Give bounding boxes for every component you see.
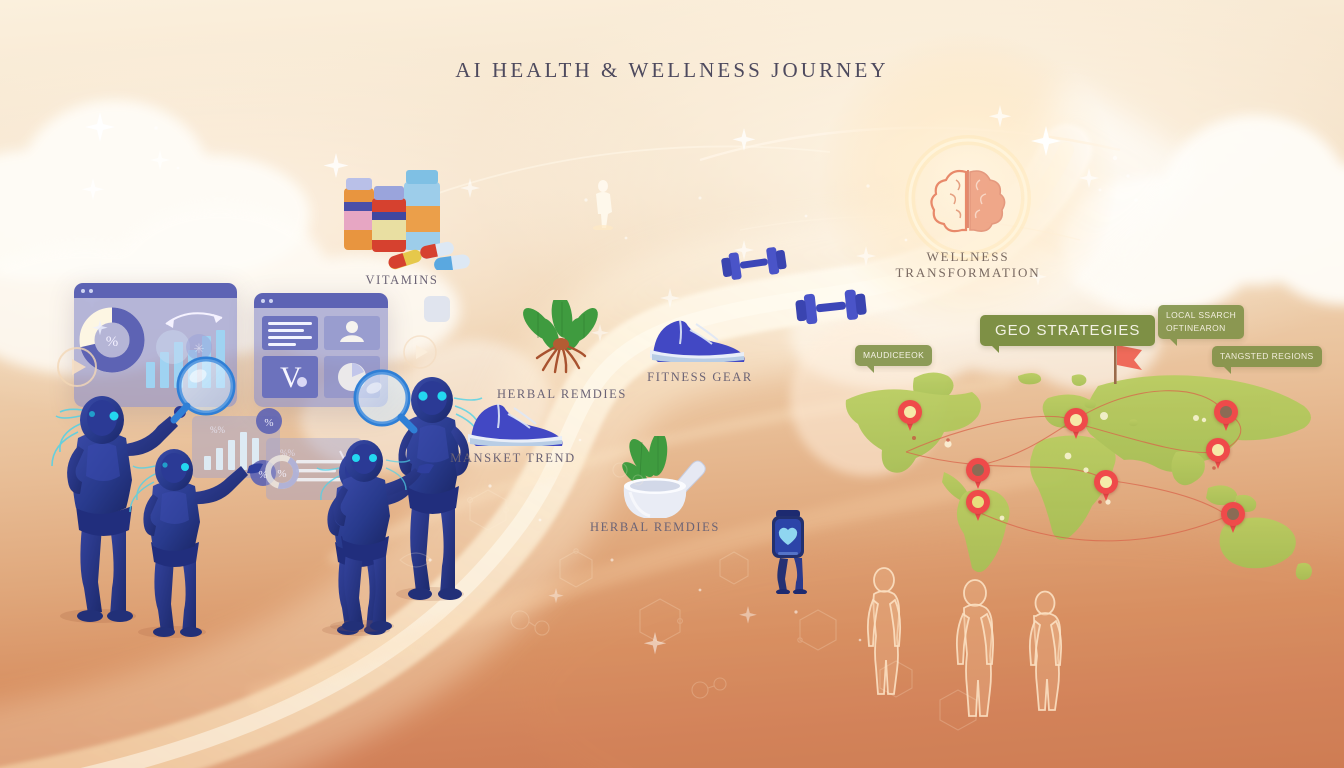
bubble-targeted-regions[interactable]: TANGSTED REGIONS (1212, 346, 1322, 367)
caption-wellness-line1: WELLNESS (926, 248, 1009, 265)
bubble-local-search[interactable]: LOCAL SSARCH OFTINEARON (1158, 305, 1244, 339)
caption-vitamins: VITAMINS (366, 273, 439, 288)
caption-market-trend: MANSKET TREND (450, 451, 576, 466)
caption-fitness-gear: FITNESS GEAR (647, 370, 753, 385)
caption-herbal-center: HERBAL REMDIES (590, 520, 720, 535)
bubble-market-regions[interactable]: MAUDICEEOK (855, 345, 932, 366)
illustration-canvas: AI HEALTH & WELLNESS JOURNEY % (0, 0, 1344, 768)
caption-wellness-line2: TRANSFORMATION (895, 264, 1040, 281)
caption-herbal-left: HERBAL REMDIES (497, 387, 627, 402)
bubble-geo-strategies[interactable]: GEO STRATEGIES (980, 315, 1155, 346)
